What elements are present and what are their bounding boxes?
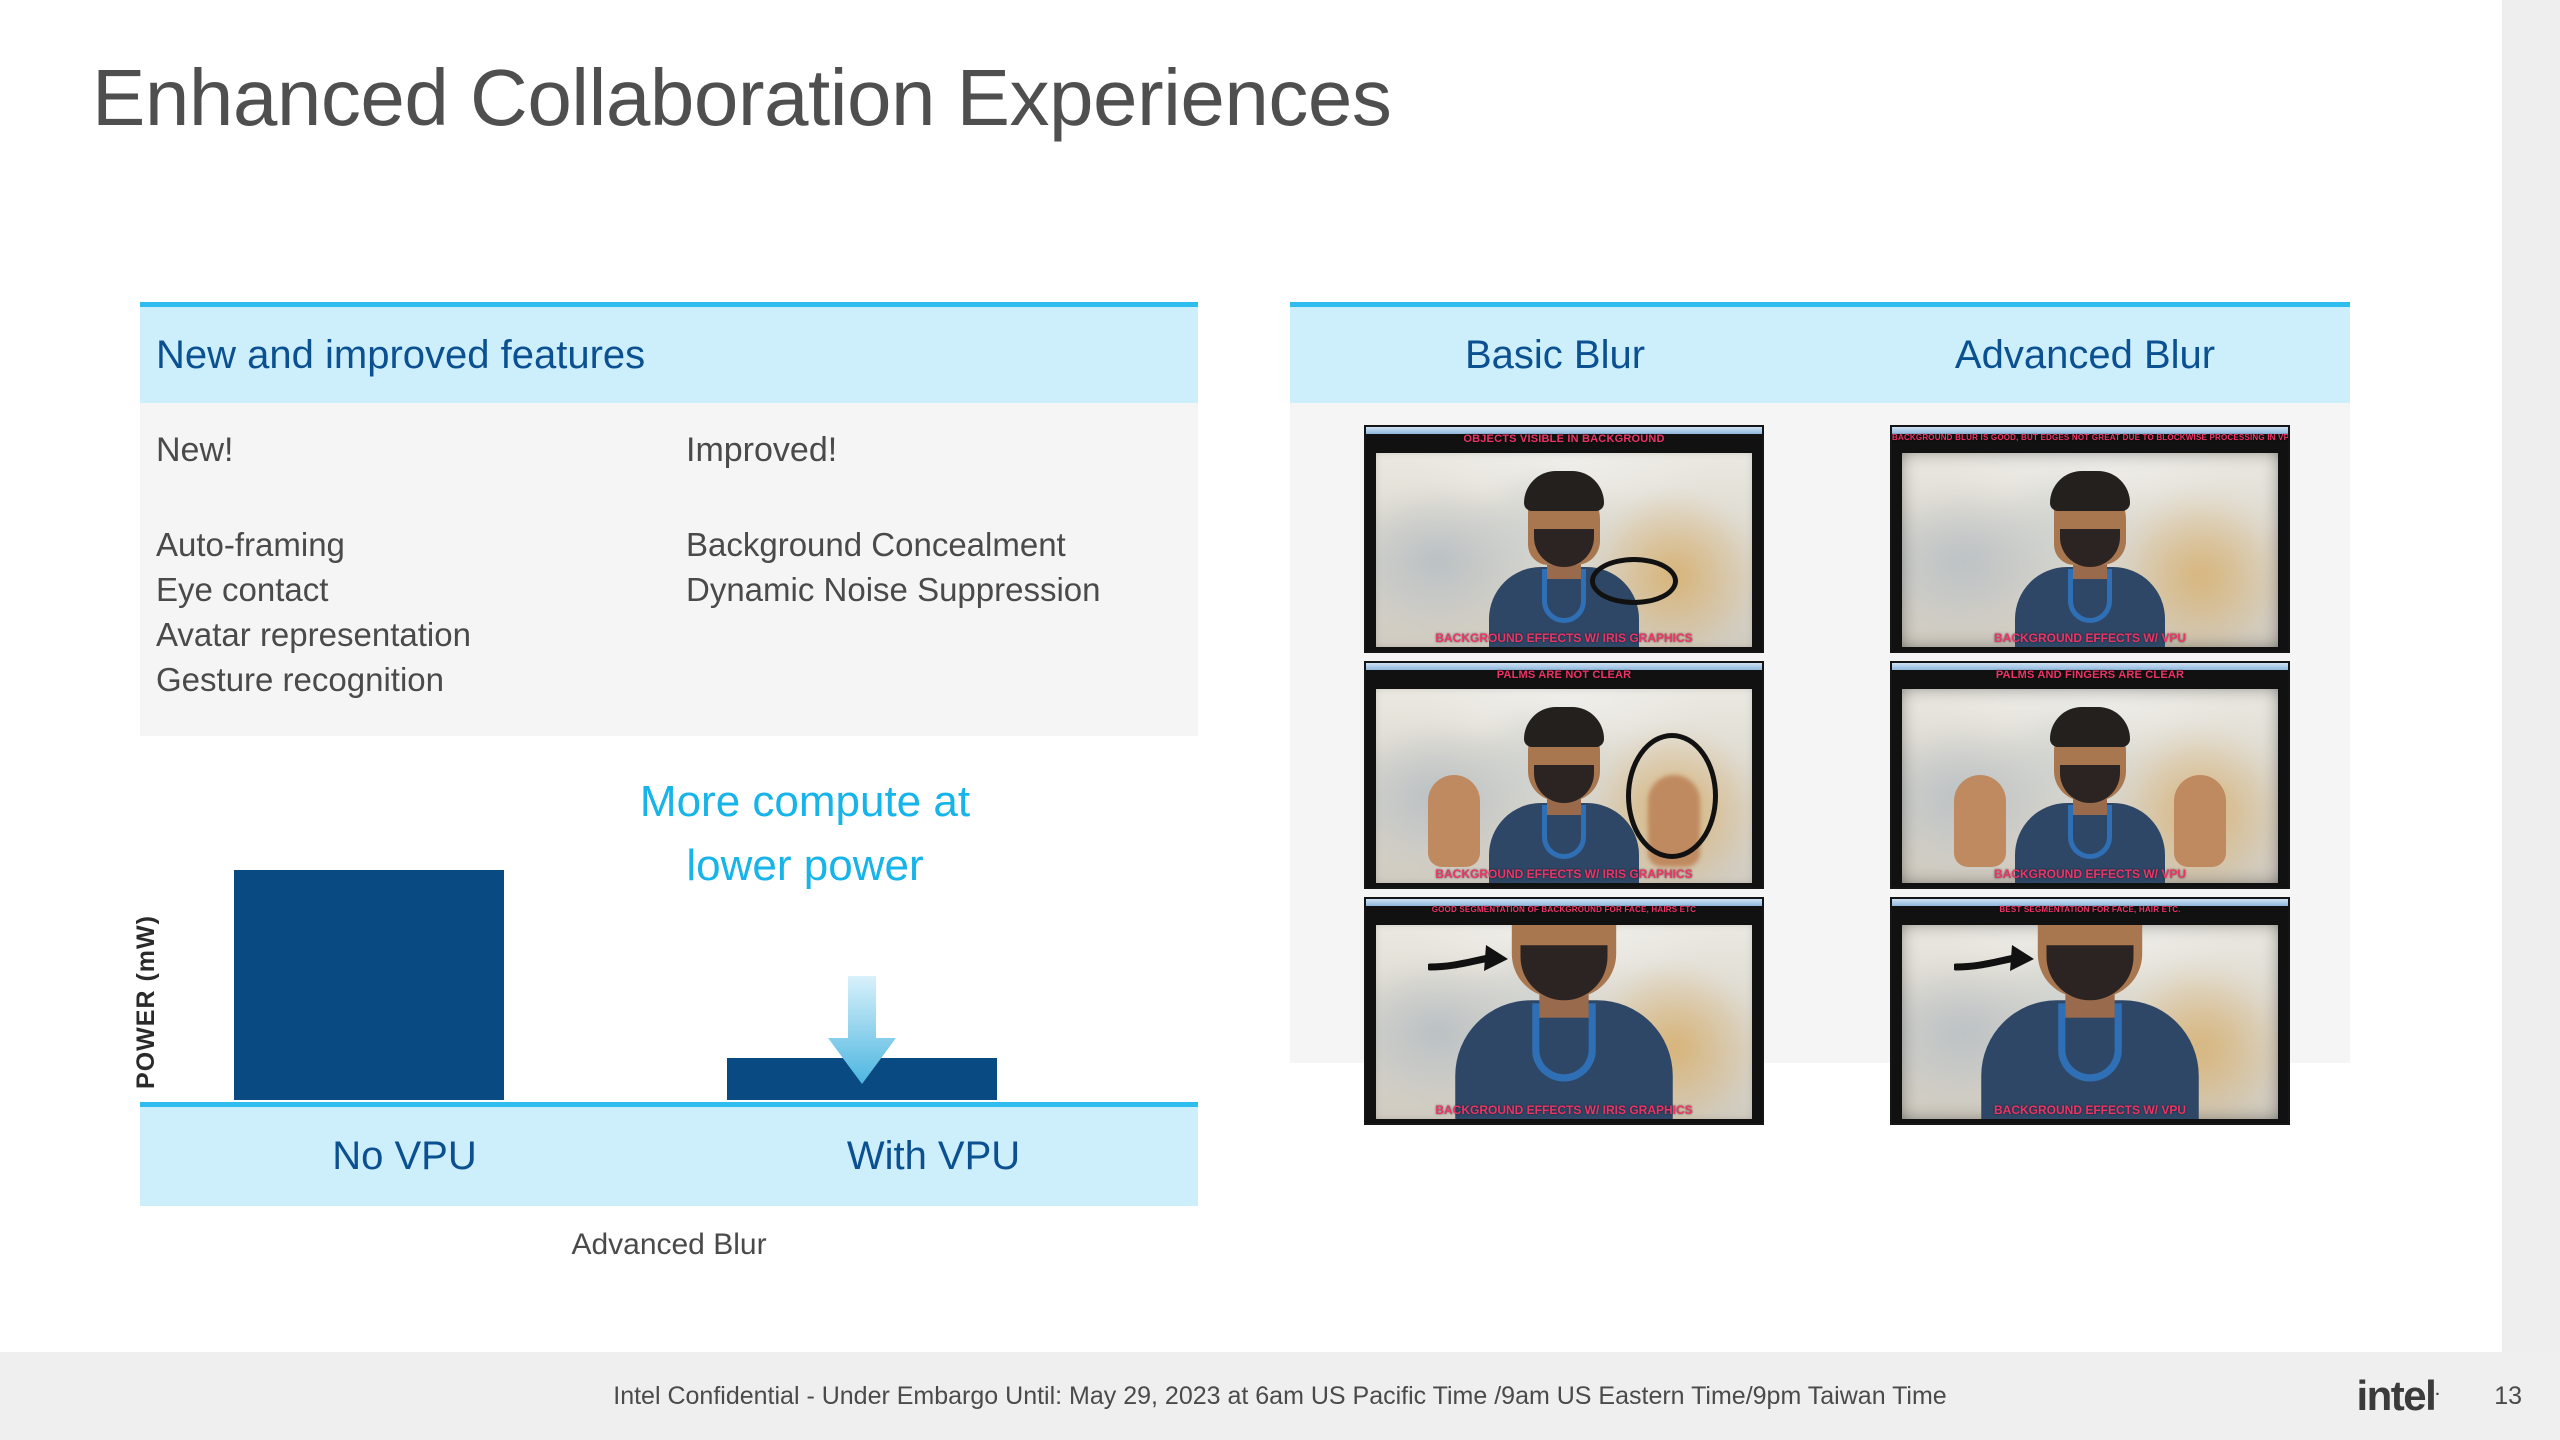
hand-left (1954, 775, 2006, 867)
chart-y-axis-label: POWER (mW) (132, 882, 161, 1122)
thumbnail-top-caption: PALMS AND FINGERS ARE CLEAR (1892, 669, 2288, 681)
demo-card-header: Basic Blur Advanced Blur (1290, 307, 2350, 403)
thumbnail-bottom-caption: BACKGROUND EFFECTS W/ VPU (1892, 1103, 2288, 1117)
thumbnail-column-basic-blur: OBJECTS VISIBLE IN BACKGROUND BACKGROUND… (1364, 425, 1764, 1133)
features-column-new: New! Auto-framing Eye contact Avatar rep… (156, 431, 686, 702)
feature-item: Auto-framing (156, 522, 686, 567)
annotation-arrow-icon (1954, 943, 2054, 983)
video-thumbnail[interactable]: PALMS ARE NOT CLEAR BACKGROUND EFFECTS W… (1364, 661, 1764, 889)
chart-category-axis: No VPU With VPU (140, 1102, 1198, 1206)
power-reduction-arrow-icon (824, 976, 900, 1086)
video-thumbnail[interactable]: GOOD SEGMENTATION OF BACKGROUND FOR FACE… (1364, 897, 1764, 1125)
hand-right (2174, 775, 2226, 867)
feature-item: Avatar representation (156, 612, 686, 657)
chart-callout-line1: More compute at (570, 770, 1040, 834)
power-bar-chart: More compute at lower power POWER (mW) N… (140, 770, 1198, 1270)
feature-item: Dynamic Noise Suppression (686, 567, 1101, 612)
thumbnail-top-caption: PALMS ARE NOT CLEAR (1366, 669, 1762, 681)
thumbnail-bottom-caption: BACKGROUND EFFECTS W/ VPU (1892, 631, 2288, 645)
slide-root: Enhanced Collaboration Experiences New a… (0, 0, 2560, 1440)
feature-item: Background Concealment (686, 522, 1101, 567)
demo-header-advanced-blur: Advanced Blur (1820, 333, 2350, 378)
confidentiality-notice: Intel Confidential - Under Embargo Until… (0, 1382, 2560, 1411)
video-frame (1376, 925, 1752, 1119)
chart-category-with-vpu: With VPU (669, 1107, 1198, 1206)
video-thumbnail[interactable]: BEST SEGMENTATION FOR FACE, HAIR ETC. BA… (1890, 897, 2290, 1125)
thumbnail-bottom-caption: BACKGROUND EFFECTS W/ IRIS GRAPHICS (1366, 1103, 1762, 1117)
features-card-title: New and improved features (156, 333, 645, 378)
demo-card-body: OBJECTS VISIBLE IN BACKGROUND BACKGROUND… (1290, 403, 2350, 1063)
annotation-arrow-icon (1428, 943, 1528, 983)
video-frame (1376, 689, 1752, 883)
feature-item: Gesture recognition (156, 657, 686, 702)
features-column-heading: Improved! (686, 431, 1101, 470)
annotation-circle-icon (1626, 733, 1718, 859)
thumbnail-column-advanced-blur: BACKGROUND BLUR IS GOOD, BUT EDGES NOT G… (1890, 425, 2290, 1133)
video-frame (1902, 925, 2278, 1119)
feature-item: Eye contact (156, 567, 686, 612)
chart-x-axis-label: Advanced Blur (140, 1228, 1198, 1262)
video-frame (1902, 689, 2278, 883)
features-column-improved: Improved! Background Concealment Dynamic… (686, 431, 1101, 702)
video-thumbnail[interactable]: OBJECTS VISIBLE IN BACKGROUND BACKGROUND… (1364, 425, 1764, 653)
thumbnail-bottom-caption: BACKGROUND EFFECTS W/ VPU (1892, 867, 2288, 881)
chart-category-no-vpu: No VPU (140, 1107, 669, 1206)
intel-logo-text: intel (2356, 1372, 2435, 1419)
video-frame (1902, 453, 2278, 647)
thumbnail-bottom-caption: BACKGROUND EFFECTS W/ IRIS GRAPHICS (1366, 867, 1762, 881)
intel-logo: intel. (2356, 1372, 2438, 1420)
features-card-body: New! Auto-framing Eye contact Avatar rep… (140, 403, 1198, 736)
video-frame (1376, 453, 1752, 647)
chart-plot-area (162, 860, 1198, 1100)
features-card: New and improved features New! Auto-fram… (140, 302, 1198, 736)
page-gutter (2502, 0, 2560, 1440)
page-number: 13 (2494, 1382, 2522, 1411)
slide-footer: Intel Confidential - Under Embargo Until… (0, 1352, 2560, 1440)
thumbnail-top-caption: GOOD SEGMENTATION OF BACKGROUND FOR FACE… (1366, 905, 1762, 914)
thumbnail-bottom-caption: BACKGROUND EFFECTS W/ IRIS GRAPHICS (1366, 631, 1762, 645)
features-card-header: New and improved features (140, 307, 1198, 403)
thumbnail-top-caption: OBJECTS VISIBLE IN BACKGROUND (1366, 433, 1762, 445)
bar-no-vpu (234, 870, 504, 1100)
thumbnail-top-caption: BEST SEGMENTATION FOR FACE, HAIR ETC. (1892, 905, 2288, 914)
hand-left (1428, 775, 1480, 867)
demo-header-basic-blur: Basic Blur (1290, 333, 1820, 378)
annotation-circle-icon (1590, 557, 1678, 605)
demo-comparison-card: Basic Blur Advanced Blur (1290, 302, 2350, 1063)
video-thumbnail[interactable]: BACKGROUND BLUR IS GOOD, BUT EDGES NOT G… (1890, 425, 2290, 653)
features-column-heading: New! (156, 431, 686, 470)
video-thumbnail[interactable]: PALMS AND FINGERS ARE CLEAR BACKGROUND E… (1890, 661, 2290, 889)
page-title: Enhanced Collaboration Experiences (92, 52, 1391, 144)
thumbnail-top-caption: BACKGROUND BLUR IS GOOD, BUT EDGES NOT G… (1892, 433, 2288, 442)
